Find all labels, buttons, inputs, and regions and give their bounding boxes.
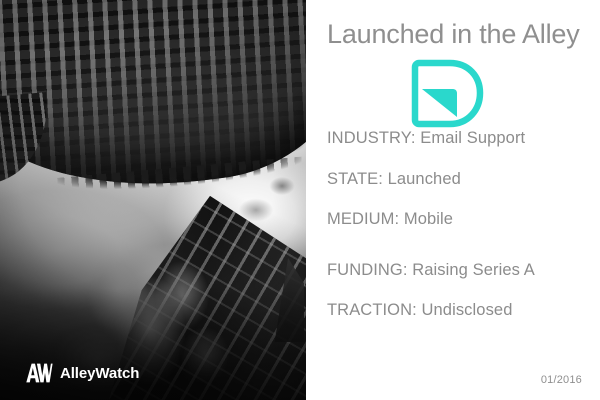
page-title: Launched in the Alley bbox=[327, 19, 580, 50]
fact-list: INDUSTRY: Email Support STATE: Launched … bbox=[327, 130, 590, 319]
fact-industry: INDUSTRY: Email Support bbox=[327, 130, 590, 147]
date-stamp: 01/2016 bbox=[541, 374, 582, 386]
city-photo-artwork bbox=[0, 0, 306, 400]
vignette-layer bbox=[0, 0, 306, 400]
fact-funding: FUNDING: Raising Series A bbox=[327, 262, 590, 279]
fact-state: STATE: Launched bbox=[327, 171, 590, 188]
fact-traction: TRACTION: Undisclosed bbox=[327, 302, 590, 319]
launched-in-the-alley-card: AlleyWatch Launched in the Alley INDUSTR… bbox=[0, 0, 600, 400]
alleywatch-aw-monogram-icon bbox=[24, 363, 53, 383]
rounded-d-logo-icon bbox=[410, 58, 488, 130]
fact-medium: MEDIUM: Mobile bbox=[327, 211, 590, 228]
cover-photo: AlleyWatch bbox=[0, 0, 306, 400]
info-panel: Launched in the Alley INDUSTRY: Email Su… bbox=[306, 0, 600, 400]
alleywatch-wordmark: AlleyWatch bbox=[60, 366, 139, 381]
alleywatch-watermark: AlleyWatch bbox=[24, 363, 139, 383]
